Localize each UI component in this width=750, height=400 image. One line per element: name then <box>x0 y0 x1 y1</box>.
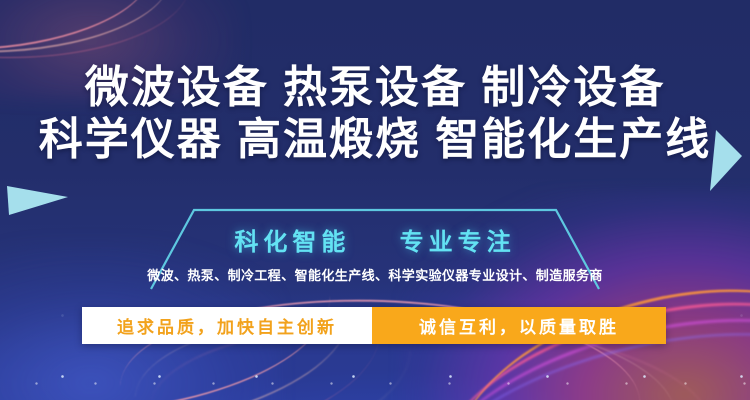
subtitle-right: 专业专注 <box>400 229 516 256</box>
subtitle-left: 科化智能 <box>234 229 350 256</box>
slogan-bars: 追求品质，加快自主创新 诚信互利，以质量取胜 <box>82 307 666 344</box>
slogan-bar-left: 追求品质，加快自主创新 <box>82 307 372 344</box>
triangle-right-icon <box>6 178 70 221</box>
slogan-bar-right: 诚信互利，以质量取胜 <box>372 307 666 344</box>
description-line: 微波、热泵、制冷工程、智能化生产线、科学实验仪器专业设计、制造服务商 <box>0 265 750 284</box>
headline-line-1: 微波设备 热泵设备 制冷设备 <box>0 62 750 114</box>
headline: 微波设备 热泵设备 制冷设备 科学仪器 高温煅烧 智能化生产线 <box>0 62 750 166</box>
subtitle-cyan: 科化智能 专业专注 <box>0 222 750 257</box>
promo-banner: 微波设备 热泵设备 制冷设备 科学仪器 高温煅烧 智能化生产线 科化智能 专业专… <box>0 0 750 400</box>
headline-line-2: 科学仪器 高温煅烧 智能化生产线 <box>0 114 750 166</box>
